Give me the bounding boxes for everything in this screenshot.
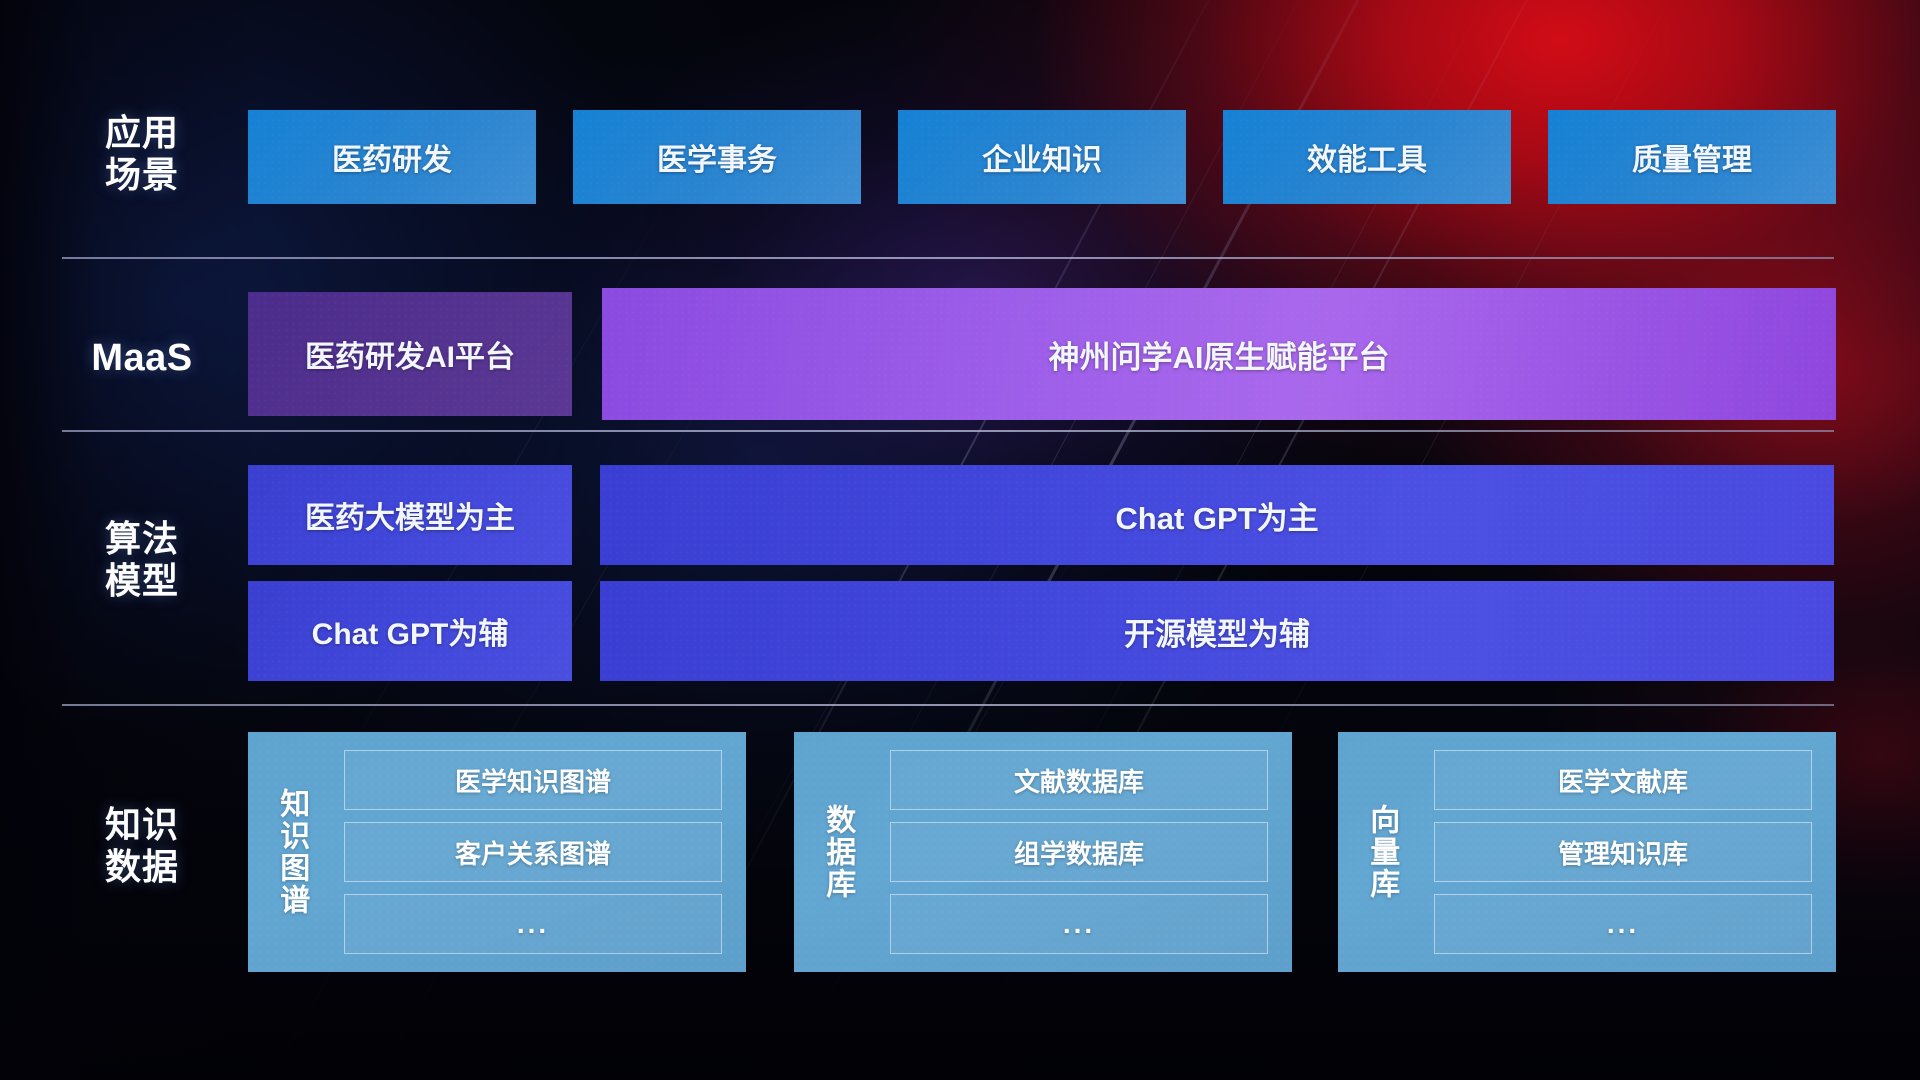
algo-box-label: 开源模型为辅: [1124, 609, 1310, 654]
knowledge-item[interactable]: 组学数据库: [890, 822, 1268, 882]
row-label-line: 数据: [64, 846, 220, 888]
row-label-line: 知识: [64, 804, 220, 846]
app-box-label: 企业知识: [982, 135, 1102, 179]
row-label-knowledge-data: 知识 数据: [64, 804, 220, 889]
algo-box-label: Chat GPT为主: [1115, 493, 1318, 538]
row-label-line: 场景: [64, 154, 220, 196]
architecture-diagram-canvas: 应用 场景 医药研发 医学事务 企业知识 效能工具 质量管理 MaaS 医药研发…: [0, 0, 1920, 1080]
knowledge-panel-item-list: 医学文献库 管理知识库 ...: [1424, 732, 1836, 972]
row-label-application-scenarios: 应用 场景: [64, 112, 220, 197]
row-label-line: 算法: [64, 518, 220, 560]
app-box-quality-management[interactable]: 质量管理: [1548, 110, 1836, 204]
app-box-medical-affairs[interactable]: 医学事务: [573, 110, 861, 204]
knowledge-panel-item-list: 医学知识图谱 客户关系图谱 ...: [334, 732, 746, 972]
app-box-label: 医药研发: [332, 135, 452, 179]
app-box-enterprise-knowledge[interactable]: 企业知识: [898, 110, 1186, 204]
row-divider-2: [62, 430, 1834, 432]
app-box-label: 医学事务: [657, 135, 777, 179]
maas-box-shenzhou-wenxue-platform[interactable]: 神州问学AI原生赋能平台: [602, 288, 1836, 420]
app-box-pharma-rnd[interactable]: 医药研发: [248, 110, 536, 204]
knowledge-panel-item-list: 文献数据库 组学数据库 ...: [880, 732, 1292, 972]
row-label-maas: MaaS: [64, 336, 220, 381]
row-label-algorithm-model: 算法 模型: [64, 518, 220, 603]
maas-box-pharma-ai-platform[interactable]: 医药研发AI平台: [248, 292, 572, 416]
knowledge-panel-title: 向量库: [1338, 732, 1424, 972]
algo-box-chatgpt-primary[interactable]: Chat GPT为主: [600, 465, 1834, 565]
knowledge-item[interactable]: 客户关系图谱: [344, 822, 722, 882]
app-box-label: 效能工具: [1307, 135, 1427, 179]
algo-box-pharma-llm-primary[interactable]: 医药大模型为主: [248, 465, 572, 565]
knowledge-item[interactable]: 医学文献库: [1434, 750, 1812, 810]
knowledge-panel-knowledge-graph[interactable]: 知识图谱 医学知识图谱 客户关系图谱 ...: [248, 732, 746, 972]
knowledge-panel-vector-store[interactable]: 向量库 医学文献库 管理知识库 ...: [1338, 732, 1836, 972]
row-label-line: 应用: [64, 112, 220, 154]
maas-box-label: 神州问学AI原生赋能平台: [1049, 332, 1390, 377]
app-box-efficiency-tools[interactable]: 效能工具: [1223, 110, 1511, 204]
algo-box-chatgpt-secondary[interactable]: Chat GPT为辅: [248, 581, 572, 681]
knowledge-panel-title: 知识图谱: [248, 732, 334, 972]
algo-box-label: 医药大模型为主: [305, 493, 515, 537]
row-divider-3: [62, 704, 1834, 706]
maas-box-label: 医药研发AI平台: [305, 332, 515, 376]
knowledge-item-more[interactable]: ...: [890, 894, 1268, 954]
row-label-line: MaaS: [64, 336, 220, 381]
knowledge-item[interactable]: 文献数据库: [890, 750, 1268, 810]
knowledge-item[interactable]: 医学知识图谱: [344, 750, 722, 810]
knowledge-item-more[interactable]: ...: [1434, 894, 1812, 954]
algo-box-label: Chat GPT为辅: [312, 609, 509, 653]
knowledge-item[interactable]: 管理知识库: [1434, 822, 1812, 882]
app-box-label: 质量管理: [1632, 135, 1752, 179]
knowledge-item-more[interactable]: ...: [344, 894, 722, 954]
row-divider-1: [62, 257, 1834, 259]
row-label-line: 模型: [64, 560, 220, 602]
knowledge-panel-database[interactable]: 数据库 文献数据库 组学数据库 ...: [794, 732, 1292, 972]
knowledge-panel-title: 数据库: [794, 732, 880, 972]
algo-box-opensource-secondary[interactable]: 开源模型为辅: [600, 581, 1834, 681]
